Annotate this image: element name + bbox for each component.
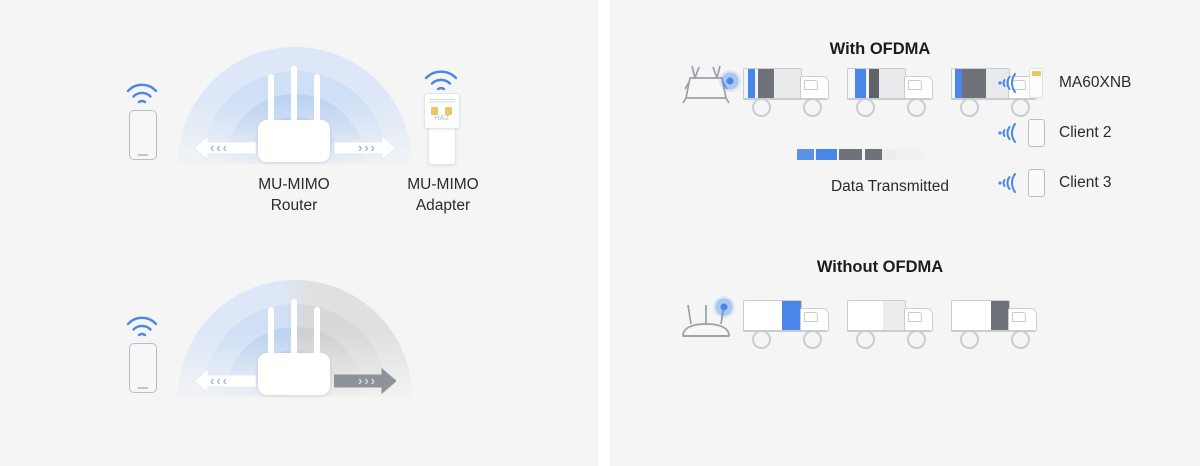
usb-adapter-stem <box>428 125 456 165</box>
data-arrow-left: ‹‹‹ <box>194 134 256 162</box>
usb-adapter-connector: HAZ <box>424 93 460 129</box>
bar-segment <box>816 149 837 160</box>
data-arrow-right: ››› <box>334 134 396 162</box>
truck-cargo <box>951 300 1010 332</box>
cargo-segment <box>748 69 755 99</box>
wifi-signal-icon <box>125 313 159 339</box>
truck-wheel <box>803 98 822 117</box>
router-body <box>258 120 330 162</box>
cargo-segment <box>758 69 774 99</box>
truck-cab <box>904 308 933 332</box>
arrow-right-chevrons: ››› <box>358 367 377 395</box>
arrow-right-chevrons: ››› <box>358 134 377 162</box>
truck-cab <box>904 76 933 100</box>
phone-icon <box>1028 169 1045 197</box>
truck-icon <box>743 66 833 118</box>
mu-mimo-usb-adapter-icon: HAZ <box>424 93 458 163</box>
client-phone-icon <box>129 110 157 160</box>
infographic-root: ‹‹‹ ››› <box>0 0 1200 466</box>
router-signal-glow <box>719 70 741 92</box>
usb-adapter-icon <box>1029 68 1043 98</box>
arrow-left-chevrons: ‹‹‹ <box>210 367 229 395</box>
truck-wheel <box>907 98 926 117</box>
truck-cargo <box>743 68 802 100</box>
truck-cargo <box>743 300 802 332</box>
client-row: Client 2 <box>995 108 1200 158</box>
block-without-ofdma: Without OFDMA Data Transmitted WaitingCl… <box>610 232 1200 466</box>
mu-mimo-router-icon <box>258 295 330 395</box>
router-antenna-right <box>314 307 320 357</box>
wifi-active-icon <box>995 120 1021 146</box>
router-signal-glow <box>713 296 735 318</box>
client-device <box>1021 169 1051 197</box>
wifi-active-icon <box>995 70 1021 96</box>
arrow-left-chevrons: ‹‹‹ <box>210 134 229 162</box>
scene-regular-adapter: ‹‹‹ ››› <box>0 233 598 466</box>
cargo-segment <box>744 301 782 331</box>
right-panel-ofdma: With OFDMA Data Transmitted MA60XNBClien… <box>610 0 1200 466</box>
truck-icon <box>847 66 937 118</box>
wifi-active-icon <box>995 170 1021 196</box>
truck-cab <box>1008 308 1037 332</box>
data-transmitted-bar-with-ofdma <box>797 149 923 160</box>
truck-cab <box>800 76 829 100</box>
truck-wheel <box>856 98 875 117</box>
truck-icon <box>743 298 833 350</box>
client-list-with-ofdma: MA60XNBClient 2Client 3 <box>995 58 1200 208</box>
truck-icon <box>951 298 1041 350</box>
with-ofdma-title: With OFDMA <box>720 40 1040 59</box>
truck-cargo <box>847 300 906 332</box>
cargo-segment <box>855 69 866 99</box>
client-row: MA60XNB <box>995 58 1200 108</box>
bar-segment <box>839 149 862 160</box>
cargo-segment <box>883 301 905 331</box>
router-body <box>258 353 330 395</box>
caption-line-2: Router <box>214 195 374 216</box>
client-label: MA60XNB <box>1051 74 1131 92</box>
router-antenna-left <box>268 307 274 357</box>
wifi6-router-icon <box>675 62 737 108</box>
bar-segment <box>897 149 923 160</box>
usb-adapter-pins <box>430 107 454 115</box>
truck-wheel <box>960 98 979 117</box>
mu-mimo-router-caption: MU-MIMO Router <box>214 174 374 216</box>
bar-segment <box>865 149 882 160</box>
mu-mimo-adapter-caption: MU-MIMO Adapter <box>370 174 516 216</box>
caption-line-1: MU-MIMO <box>214 174 374 195</box>
cargo-segment <box>782 301 801 331</box>
client-device <box>1021 119 1051 147</box>
data-arrow-left: ‹‹‹ <box>194 367 256 395</box>
mu-mimo-router-icon <box>258 62 330 162</box>
cargo-segment <box>962 69 986 99</box>
truck-cargo <box>847 68 906 100</box>
truck-wheel <box>1011 330 1030 349</box>
scene-mu-mimo-adapter: ‹‹‹ ››› <box>0 0 598 233</box>
block-with-ofdma: With OFDMA Data Transmitted MA60XNBClien… <box>610 0 1200 230</box>
truck-icon <box>847 298 937 350</box>
client-label: Client 2 <box>1051 124 1112 142</box>
bar-segment <box>882 149 897 160</box>
client-phone-icon <box>129 343 157 393</box>
data-arrow-right-grey: ››› <box>334 367 396 395</box>
adapter-wifi-signal-icon <box>423 65 459 91</box>
cargo-segment <box>879 69 905 99</box>
cargo-segment <box>848 69 855 99</box>
cargo-segment <box>952 301 991 331</box>
truck-wheel <box>752 98 771 117</box>
cargo-segment <box>991 301 1009 331</box>
cargo-segment <box>869 69 879 99</box>
truck-wheel <box>907 330 926 349</box>
caption-line-1: MU-MIMO <box>370 174 516 195</box>
router-antenna-left <box>268 74 274 124</box>
without-ofdma-title: Without OFDMA <box>720 258 1040 277</box>
truck-wheel <box>803 330 822 349</box>
left-panel-mu-mimo: ‹‹‹ ››› <box>0 0 598 466</box>
client-row: Client 3 <box>995 158 1200 208</box>
router-antenna-middle <box>291 299 297 357</box>
caption-line-2: Adapter <box>370 195 516 216</box>
bar-segment <box>797 149 814 160</box>
classic-router-icon <box>675 296 737 342</box>
cargo-segment <box>848 301 883 331</box>
cargo-segment <box>955 69 962 99</box>
client-device <box>1021 68 1051 98</box>
client-label: Client 3 <box>1051 174 1112 192</box>
truck-row-without-ofdma <box>743 298 1043 350</box>
truck-wheel <box>856 330 875 349</box>
router-antenna-middle <box>291 66 297 124</box>
cargo-segment <box>774 69 801 99</box>
router-antenna-right <box>314 74 320 124</box>
truck-wheel <box>960 330 979 349</box>
phone-icon <box>1028 119 1045 147</box>
truck-wheel <box>752 330 771 349</box>
usb-adapter-brand-text: HAZ <box>425 115 459 122</box>
truck-cab <box>800 308 829 332</box>
wifi-signal-icon <box>125 80 159 106</box>
usb-adapter-label-lines <box>429 99 455 104</box>
